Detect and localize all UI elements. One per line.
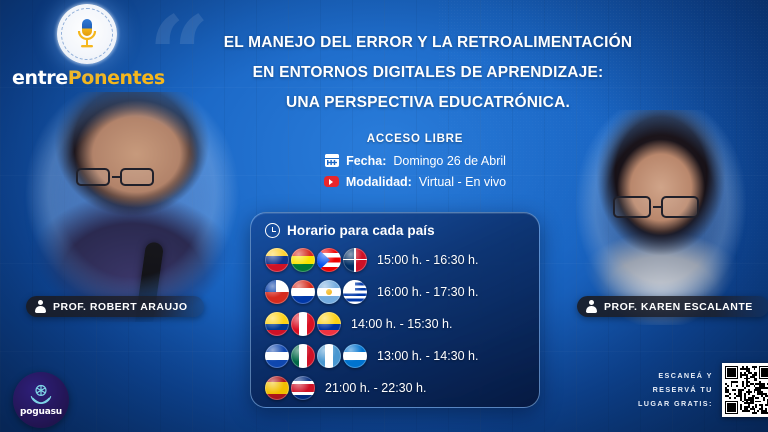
youtube-icon <box>324 174 339 189</box>
speaker-image-left <box>22 92 242 322</box>
country-flag-group <box>265 280 369 304</box>
flag-icon-argentina <box>317 280 341 304</box>
access-mode-row: Modalidad: Virtual - En vivo <box>250 174 580 189</box>
brain-in-hand-icon <box>28 384 54 406</box>
schedule-row: 15:00 h. - 16:30 h. <box>265 245 527 274</box>
flag-icon-bolivia <box>291 248 315 272</box>
access-mode-value: Virtual - En vivo <box>419 175 506 189</box>
access-heading: ACCESO LIBRE <box>250 133 580 145</box>
qr-label: ESCANEÁ Y RESERVÁ TU LUGAR GRATIS: <box>638 369 713 411</box>
qr-code-icon[interactable] <box>722 363 768 417</box>
flag-icon-uruguay <box>343 280 367 304</box>
person-icon <box>35 300 46 313</box>
microphone-glyph <box>74 17 100 51</box>
webinar-poster: “ entrePonentes EL MANEJO DEL ERROR Y LA… <box>0 0 768 432</box>
glasses-icon-right <box>613 196 699 218</box>
flag-icon-honduras <box>343 344 367 368</box>
schedule-panel: Horario para cada país 15:00 h. - 16:30 … <box>250 212 540 408</box>
flag-icon-chile <box>265 280 289 304</box>
speaker-name-badge-right: PROF. KAREN ESCALANTE <box>577 296 768 317</box>
brand-logo-text-entre: entre <box>12 67 68 89</box>
schedule-time: 13:00 h. - 14:30 h. <box>377 349 478 363</box>
flag-icon-república-dominicana <box>343 248 367 272</box>
brand-logo-text-ponentes: Ponentes <box>68 67 165 89</box>
flag-icon-el-salvador <box>265 344 289 368</box>
flag-icon-méxico <box>291 344 315 368</box>
brand-logo-text: entrePonentes <box>12 67 162 89</box>
access-date-label: Fecha: <box>346 154 386 168</box>
flag-icon-venezuela <box>265 248 289 272</box>
country-flag-group <box>265 312 343 336</box>
speaker-photo-karen-escalante <box>575 110 747 325</box>
flag-icon-ecuador <box>317 312 341 336</box>
title-line-2: EN ENTORNOS DIGITALES DE APRENDIZAJE: <box>168 58 688 88</box>
schedule-row: 13:00 h. - 14:30 h. <box>265 341 527 370</box>
flag-icon-paraguay <box>291 280 315 304</box>
partner-logo-poguasu: poguasu <box>13 372 69 428</box>
schedule-rows: 15:00 h. - 16:30 h.16:00 h. - 17:30 h.14… <box>265 245 527 402</box>
access-date-row: Fecha: Domingo 26 de Abril <box>250 153 580 168</box>
page-title: EL MANEJO DEL ERROR Y LA RETROALIMENTACI… <box>168 28 688 118</box>
glasses-icon-left <box>76 168 154 186</box>
title-line-1: EL MANEJO DEL ERROR Y LA RETROALIMENTACI… <box>168 28 688 58</box>
speaker-photo-robert-araujo <box>22 92 242 322</box>
schedule-time: 21:00 h. - 22:30 h. <box>325 381 426 395</box>
qr-label-line-3: LUGAR GRATIS: <box>638 397 713 411</box>
brand-logo: entrePonentes <box>12 4 162 89</box>
schedule-heading-row: Horario para cada país <box>265 223 527 238</box>
microphone-icon <box>57 4 117 64</box>
access-info: ACCESO LIBRE Fecha: Domingo 26 de Abril … <box>250 133 580 195</box>
country-flag-group <box>265 248 369 272</box>
schedule-row: 14:00 h. - 15:30 h. <box>265 309 527 338</box>
flag-icon-españa <box>265 376 289 400</box>
person-icon <box>586 300 597 313</box>
country-flag-group <box>265 376 317 400</box>
qr-cta-block: ESCANEÁ Y RESERVÁ TU LUGAR GRATIS: <box>638 363 768 417</box>
schedule-row: 16:00 h. - 17:30 h. <box>265 277 527 306</box>
speaker-name-left: PROF. ROBERT ARAUJO <box>53 301 188 313</box>
access-mode-label: Modalidad: <box>346 175 412 189</box>
access-date-value: Domingo 26 de Abril <box>393 154 506 168</box>
speaker-name-badge-left: PROF. ROBERT ARAUJO <box>26 296 204 317</box>
schedule-heading: Horario para cada país <box>287 223 435 238</box>
calendar-icon <box>324 153 339 168</box>
partner-name: poguasu <box>20 407 62 417</box>
schedule-row: 21:00 h. - 22:30 h. <box>265 373 527 402</box>
schedule-time: 14:00 h. - 15:30 h. <box>351 317 452 331</box>
speaker-mask-left <box>22 92 242 322</box>
flag-icon-colombia <box>265 312 289 336</box>
clock-icon <box>265 223 280 238</box>
flag-icon-costa-rica <box>291 376 315 400</box>
speaker-mask-right <box>575 110 747 325</box>
flag-icon-puerto-rico <box>317 248 341 272</box>
schedule-time: 16:00 h. - 17:30 h. <box>377 285 478 299</box>
qr-label-line-1: ESCANEÁ Y <box>638 369 713 383</box>
country-flag-group <box>265 344 369 368</box>
schedule-time: 15:00 h. - 16:30 h. <box>377 253 478 267</box>
qr-label-line-2: RESERVÁ TU <box>638 383 713 397</box>
speaker-name-right: PROF. KAREN ESCALANTE <box>604 301 753 313</box>
flag-icon-guatemala <box>317 344 341 368</box>
flag-icon-perú <box>291 312 315 336</box>
